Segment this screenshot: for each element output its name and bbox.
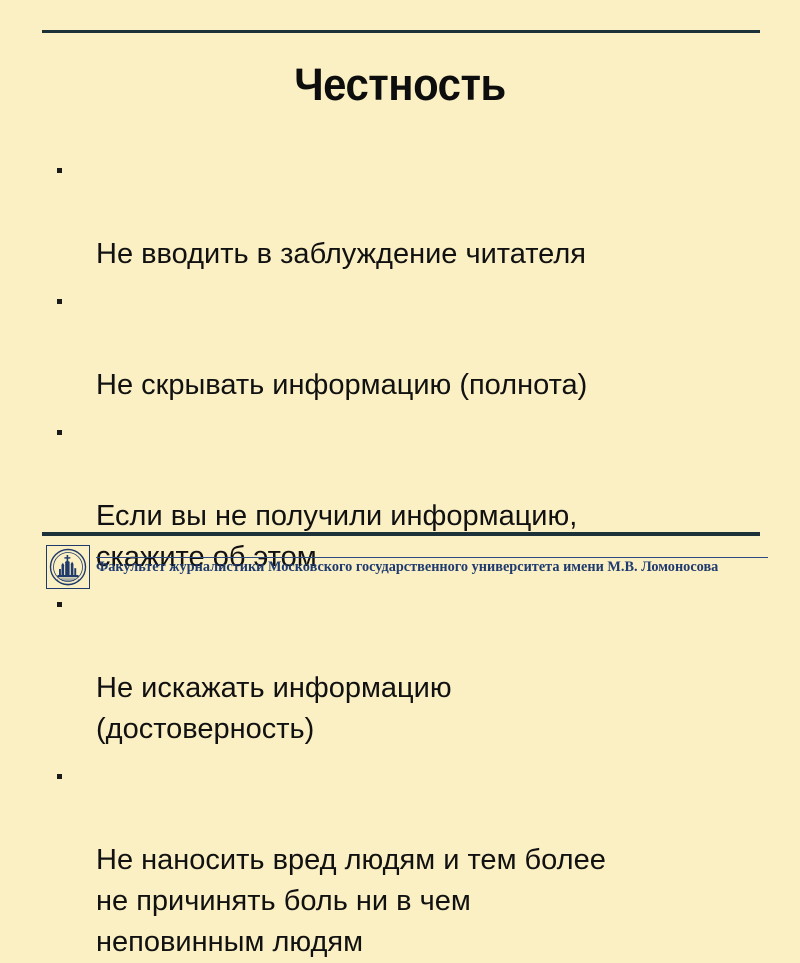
list-item-text: Не наносить вред людям и тем более не пр…	[96, 844, 606, 958]
footer-divider	[42, 532, 760, 536]
presentation-slide: Честность Не вводить в заблуждение читат…	[0, 0, 800, 600]
page-title: Честность	[28, 58, 772, 112]
bullet-dot-icon	[57, 430, 62, 435]
footer-text-underline	[96, 557, 768, 558]
footer-institution-text: Факультет журналистики Московского госуд…	[96, 559, 762, 576]
list-item: Не скрывать информацию (полнота)	[50, 283, 760, 406]
bullet-dot-icon	[57, 299, 62, 304]
footer-text-container: Факультет журналистики Московского госуд…	[96, 559, 772, 576]
bullet-dot-icon	[57, 602, 62, 607]
bullet-dot-icon	[57, 774, 62, 779]
list-item-text: Не искажать информацию (достоверность)	[96, 672, 452, 745]
list-item: Не искажать информацию (достоверность)	[50, 586, 760, 750]
bullet-dot-icon	[57, 168, 62, 173]
list-item-text: Не вводить в заблуждение читателя	[96, 238, 586, 270]
list-item: Не вводить в заблуждение читателя	[50, 152, 760, 275]
list-item: Не наносить вред людям и тем более не пр…	[50, 758, 760, 963]
header-divider	[42, 30, 760, 33]
msu-emblem-icon	[46, 545, 90, 589]
slide-footer: Факультет журналистики Московского госуд…	[0, 543, 800, 591]
list-item-text: Не скрывать информацию (полнота)	[96, 369, 587, 401]
